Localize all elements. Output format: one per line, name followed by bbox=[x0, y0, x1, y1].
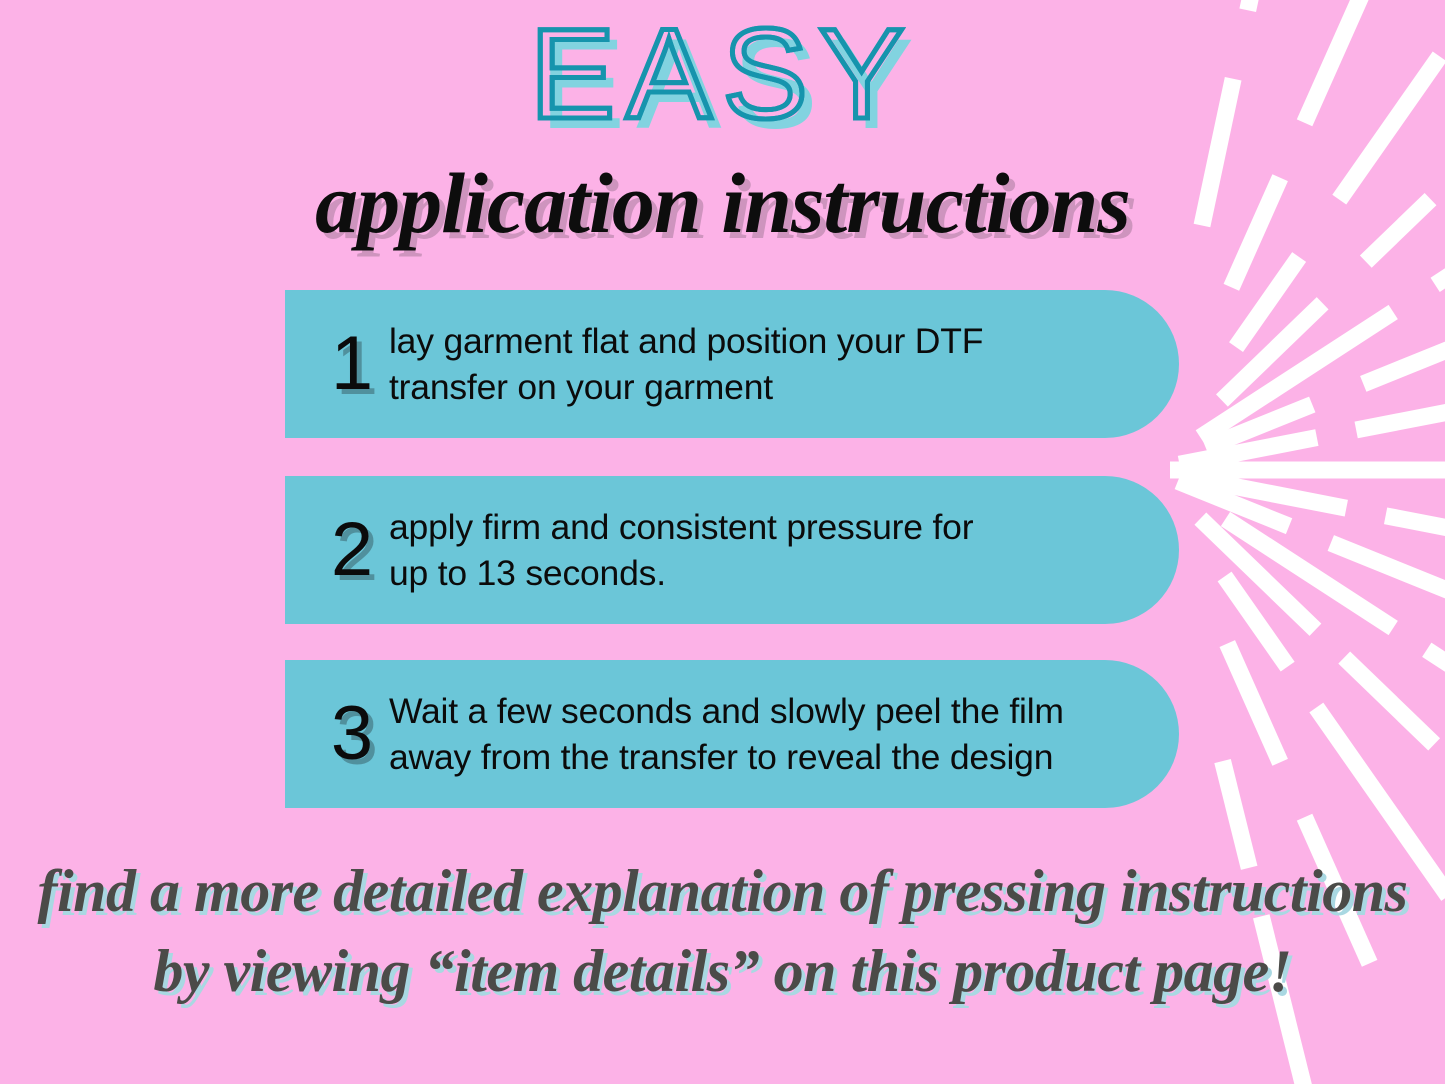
step-item-2: 2 apply firm and consistent pressure for… bbox=[285, 476, 1179, 624]
ray-dash-8-1 bbox=[1386, 516, 1445, 547]
ray-dash-11-0 bbox=[1200, 519, 1315, 630]
step-item-3: 3 Wait a few seconds and slowly peel the… bbox=[285, 660, 1179, 808]
ray-dash-5-1 bbox=[1363, 305, 1445, 384]
step-item-1: 1 lay garment flat and position your DTF… bbox=[285, 290, 1179, 438]
poster-canvas: EASY EASY application instructions 1 lay… bbox=[0, 0, 1445, 1084]
ray-dash-8-0 bbox=[1189, 478, 1346, 509]
page-title: EASY bbox=[0, 8, 1445, 142]
step-text-3: Wait a few seconds and slowly peel the f… bbox=[389, 688, 1064, 780]
step-text-2: apply firm and consistent pressure for u… bbox=[389, 504, 973, 596]
ray-dash-9-1 bbox=[1331, 543, 1445, 667]
ray-dash-11-1 bbox=[1344, 658, 1434, 745]
ray-dash-10-1 bbox=[1427, 650, 1445, 721]
ray-dash-4-0 bbox=[1200, 312, 1393, 437]
step-number-2: 2 bbox=[315, 512, 389, 588]
ray-dash-13-0 bbox=[1227, 644, 1280, 763]
footer-note: find a more detailed explanation of pres… bbox=[0, 852, 1445, 1012]
ray-dash-6-0 bbox=[1179, 438, 1316, 465]
step-number-3: 3 bbox=[315, 696, 389, 772]
ray-dash-6-1 bbox=[1356, 394, 1445, 430]
ray-dash-9-0 bbox=[1178, 481, 1289, 526]
ray-dash-2-0 bbox=[1236, 257, 1299, 347]
step-number-1: 1 bbox=[315, 326, 389, 402]
page-subtitle: application instructions bbox=[0, 160, 1445, 246]
ray-dash-10-0 bbox=[1225, 519, 1393, 628]
ray-dash-12-0 bbox=[1225, 576, 1288, 666]
ray-dash-3-0 bbox=[1222, 303, 1323, 400]
step-text-1: lay garment flat and position your DTF t… bbox=[389, 318, 983, 410]
ray-dash-5-0 bbox=[1206, 404, 1313, 447]
